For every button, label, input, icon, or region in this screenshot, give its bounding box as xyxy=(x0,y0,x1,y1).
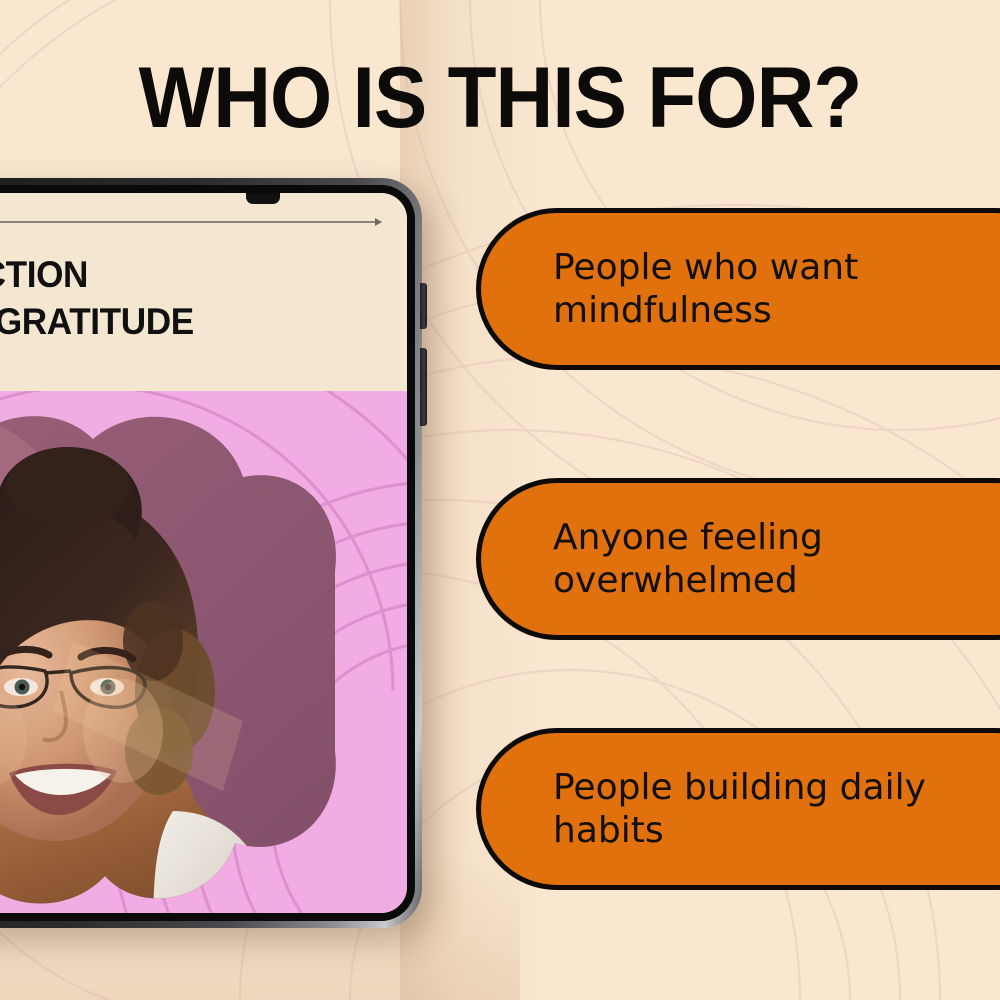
flower-photo-mask xyxy=(0,391,407,913)
audience-pill-3-label: People building daily habits xyxy=(553,766,1000,852)
tablet-mockup: M REFLECTION JOY: THE GRATITUDE RNAL xyxy=(0,178,422,928)
tablet-power-button[interactable] xyxy=(420,348,427,426)
tablet-screen: M REFLECTION JOY: THE GRATITUDE RNAL xyxy=(0,193,407,913)
book-title-line-1: M REFLECTION xyxy=(0,251,407,298)
audience-pill-1[interactable]: People who want mindfulness xyxy=(476,208,1000,370)
page-title: WHO IS THIS FOR? xyxy=(35,52,965,144)
tablet-volume-button[interactable] xyxy=(420,283,427,329)
book-cover-artwork xyxy=(0,391,407,913)
book-cover-header: M REFLECTION JOY: THE GRATITUDE RNAL xyxy=(0,193,407,391)
audience-pill-3[interactable]: People building daily habits xyxy=(476,728,1000,890)
cover-photo xyxy=(0,391,407,913)
camera-notch-icon xyxy=(246,193,280,204)
audience-pill-2-label: Anyone feeling overwhelmed xyxy=(553,516,1000,602)
book-title-line-2: JOY: THE GRATITUDE xyxy=(0,298,407,345)
book-title-line-3: RNAL xyxy=(0,345,407,392)
audience-pill-2[interactable]: Anyone feeling overwhelmed xyxy=(476,478,1000,640)
arrow-rule-icon xyxy=(0,221,381,223)
book-cover-title: M REFLECTION JOY: THE GRATITUDE RNAL xyxy=(0,251,407,392)
slide-canvas: WHO IS THIS FOR? M REFLECTION JOY: THE G… xyxy=(0,0,1000,1000)
audience-pill-1-label: People who want mindfulness xyxy=(553,246,1000,332)
